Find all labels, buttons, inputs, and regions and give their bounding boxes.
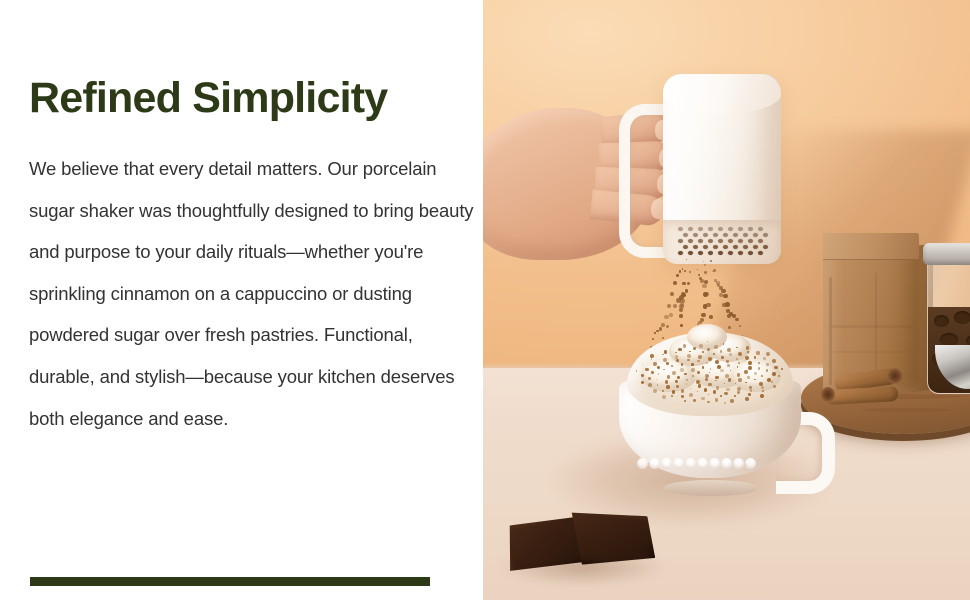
cinnamon-speck (691, 368, 695, 372)
shaker-hole (753, 233, 758, 237)
cinnamon-speck (730, 399, 734, 403)
cinnamon-speck (715, 360, 719, 364)
cinnamon-speck (724, 392, 727, 395)
cup-dot-relief (637, 458, 753, 470)
cinnamon-speck (696, 380, 700, 384)
cinnamon-speck (737, 366, 739, 368)
shaker-hole (748, 227, 753, 231)
shaker-hole (723, 245, 728, 249)
cinnamon-speck (738, 378, 742, 382)
cup-dot (673, 458, 684, 469)
cup-dot (745, 458, 756, 469)
shaker-hole (678, 239, 683, 243)
cinnamon-particle (652, 338, 654, 340)
cinnamon-speck (766, 352, 770, 356)
shaker-hole (683, 233, 688, 237)
body-description: We believe that every detail matters. Ou… (29, 148, 474, 439)
cinnamon-speck (747, 351, 749, 353)
photo-stage (483, 0, 970, 600)
shaker-hole (733, 245, 738, 249)
shaker-hole (693, 245, 698, 249)
cinnamon-speck (665, 380, 669, 384)
cinnamon-particle (686, 259, 688, 261)
cinnamon-speck (745, 382, 747, 384)
cinnamon-speck (724, 402, 726, 404)
cinnamon-speck (766, 369, 768, 371)
cinnamon-speck (772, 359, 776, 363)
cinnamon-speck (736, 358, 738, 360)
cinnamon-speck (678, 348, 682, 352)
cinnamon-speck (658, 373, 659, 374)
shaker-hole (753, 245, 758, 249)
cinnamon-particle (679, 314, 683, 318)
text-panel: Refined Simplicity We believe that every… (0, 0, 483, 600)
cinnamon-speck (720, 350, 723, 353)
shaker-hole (728, 251, 733, 255)
cinnamon-speck (744, 370, 748, 374)
shaker-hole (758, 239, 763, 243)
cinnamon-speck (781, 368, 783, 370)
cinnamon-speck (675, 352, 677, 354)
sugar-shaker (663, 74, 781, 264)
cinnamon-speck (653, 389, 657, 393)
shaker-hole (743, 245, 748, 249)
cinnamon-speck (648, 383, 652, 387)
cup-dot (649, 458, 660, 469)
cinnamon-speck (761, 386, 764, 389)
shaker-hole (688, 239, 693, 243)
shaker-hole (698, 227, 703, 231)
cinnamon-speck (686, 379, 688, 381)
cinnamon-speck (773, 385, 776, 388)
cinnamon-particle (735, 318, 738, 321)
cup-foot (663, 480, 759, 496)
shaker-hole (718, 227, 723, 231)
cinnamon-speck (778, 375, 780, 377)
shaker-hole (713, 245, 718, 249)
cinnamon-speck (702, 351, 704, 353)
cinnamon-speck (641, 381, 644, 384)
shaker-hole (698, 239, 703, 243)
cinnamon-speck (691, 363, 694, 366)
shaker-hole (698, 251, 703, 255)
cinnamon-speck (687, 359, 690, 362)
paper-bag-fold (823, 233, 919, 260)
shaker-hole (763, 233, 768, 237)
cinnamon-speck (666, 362, 669, 365)
shaker-hole (708, 251, 713, 255)
cinnamon-speck (709, 372, 710, 373)
cinnamon-speck (738, 352, 742, 356)
cinnamon-speck (684, 400, 686, 402)
cinnamon-speck (708, 357, 712, 361)
cinnamon-particle (673, 281, 677, 285)
shaker-hole (743, 233, 748, 237)
shaker-hole (713, 233, 718, 237)
shaker-hole (738, 227, 743, 231)
cinnamon-speck (681, 363, 683, 365)
cinnamon-speck (651, 358, 652, 359)
cinnamon-speck (681, 395, 684, 398)
cappuccino-cup (619, 360, 801, 490)
shaker-hole (703, 233, 708, 237)
shaker-hole (723, 233, 728, 237)
cinnamon-speck (698, 355, 702, 359)
cinnamon-speck (645, 368, 649, 372)
cinnamon-speck (701, 397, 705, 401)
cinnamon-speck (723, 343, 724, 344)
cinnamon-speck (693, 399, 696, 402)
shaker-hole (728, 239, 733, 243)
shaker-hole (748, 239, 753, 243)
cinnamon-particle (680, 324, 683, 327)
cinnamon-speck (704, 388, 708, 392)
shaker-hole (733, 233, 738, 237)
cinnamon-speck (666, 385, 670, 389)
shaker-hole (738, 239, 743, 243)
shaker-hole (683, 245, 688, 249)
shaker-hole (678, 227, 683, 231)
cinnamon-speck (672, 371, 676, 375)
page-title: Refined Simplicity (29, 74, 387, 122)
cinnamon-speck (686, 383, 688, 385)
shaker-holes (676, 224, 768, 256)
cinnamon-speck (729, 353, 732, 356)
cinnamon-speck (716, 386, 720, 390)
shaker-hole (758, 251, 763, 255)
cinnamon-speck (672, 390, 675, 393)
cup-dot (709, 458, 720, 469)
cinnamon-speck (699, 344, 703, 348)
cinnamon-speck (720, 369, 723, 372)
cinnamon-particle (654, 332, 655, 333)
cinnamon-speck (662, 390, 664, 392)
cinnamon-particle (702, 284, 707, 289)
cinnamon-particle (739, 325, 741, 327)
cup-dot (685, 458, 696, 469)
cinnamon-particle (725, 302, 730, 307)
cup-dot (721, 458, 732, 469)
shaker-hole (708, 239, 713, 243)
jar-lid (923, 243, 970, 265)
cinnamon-speck (748, 393, 750, 395)
cup-dot (661, 458, 672, 469)
cinnamon-speck (656, 379, 657, 380)
cup-dot (637, 458, 648, 469)
cinnamon-particle (727, 314, 731, 318)
cinnamon-particle (716, 281, 720, 285)
accent-rule-divider (30, 577, 430, 586)
cinnamon-speck (726, 360, 729, 363)
cinnamon-particle (732, 314, 736, 318)
shaker-base-curve (663, 74, 781, 114)
cinnamon-speck (748, 366, 752, 370)
cinnamon-speck (726, 388, 730, 392)
cinnamon-speck (662, 395, 666, 399)
cinnamon-speck (690, 388, 691, 389)
cinnamon-stick-end (821, 387, 835, 402)
shaker-hole (728, 227, 733, 231)
cinnamon-stick-end (887, 368, 903, 384)
cup-dot (733, 458, 744, 469)
cinnamon-speck (697, 360, 699, 362)
shaker-hole (763, 245, 768, 249)
cinnamon-speck (754, 372, 757, 375)
cinnamon-speck (746, 346, 749, 349)
cinnamon-particle (676, 298, 681, 303)
cinnamon-speck (717, 365, 721, 369)
cinnamon-speck (720, 395, 722, 397)
cinnamon-particle (704, 271, 707, 274)
cinnamon-speck (721, 356, 724, 359)
cinnamon-speck (663, 358, 667, 362)
shaker-hole (738, 251, 743, 255)
shaker-hole (748, 251, 753, 255)
cinnamon-particle (710, 260, 712, 262)
cinnamon-speck (714, 345, 718, 349)
cinnamon-particle (687, 282, 690, 285)
cinnamon-particle (659, 327, 662, 330)
shaker-hole (678, 251, 683, 255)
cup-dot (697, 458, 708, 469)
cinnamon-particle (664, 315, 669, 320)
cinnamon-speck (653, 362, 657, 366)
cinnamon-speck (697, 371, 700, 374)
shaker-hole (688, 227, 693, 231)
shaker-hole (708, 227, 713, 231)
shaker-hole (688, 251, 693, 255)
shaker-hole (693, 233, 698, 237)
shaker-hole (718, 251, 723, 255)
shaker-hole (703, 245, 708, 249)
product-photo (483, 0, 970, 600)
product-feature-banner: Refined Simplicity We believe that every… (0, 0, 970, 600)
shaker-hole (718, 239, 723, 243)
shaker-hole (758, 227, 763, 231)
cinnamon-speck (756, 351, 759, 354)
cinnamon-speck (737, 373, 741, 377)
